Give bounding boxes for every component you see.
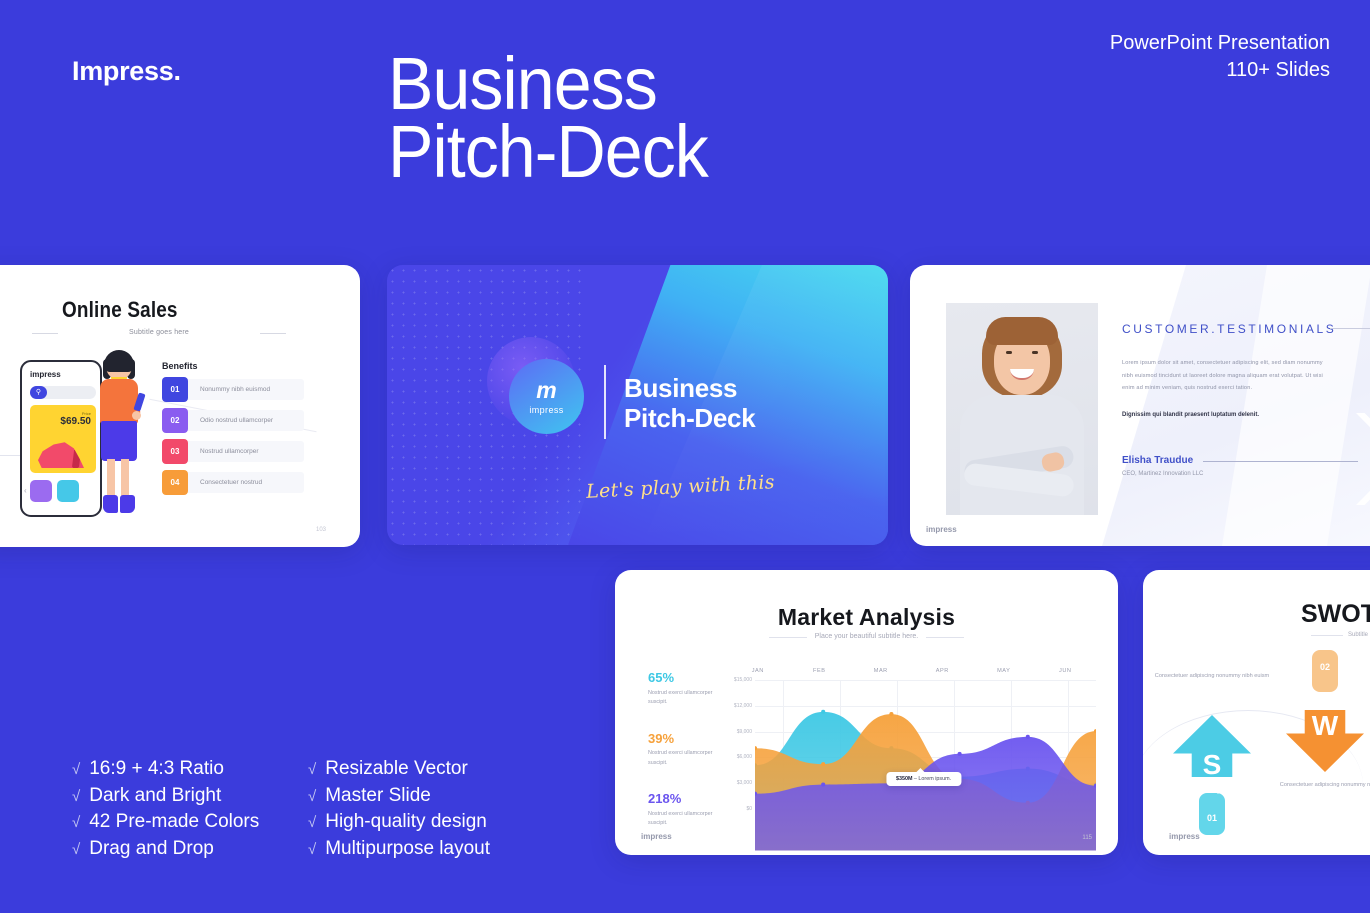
swot-letter: S	[1173, 751, 1251, 779]
vertical-divider	[604, 365, 606, 439]
page-number: 103	[316, 527, 326, 533]
check-icon: √	[308, 757, 316, 783]
y-axis-tick: $9,000	[737, 729, 752, 735]
chart-title: Market Analysis	[615, 604, 1118, 631]
page-title: Business Pitch-Deck	[388, 50, 708, 186]
legend-percent: 218%	[648, 791, 714, 807]
slide-subtitle: Subtitle	[1348, 632, 1368, 638]
feature-label: Resizable Vector	[325, 756, 468, 782]
chart-tooltip: $350M – Lorem ipsum.	[886, 772, 961, 786]
price-value: $69.50	[60, 416, 91, 427]
thumbnail-cyan	[57, 480, 79, 502]
impress-logo: m impress	[509, 359, 584, 434]
swot-number: 02	[1286, 662, 1364, 672]
swot-label: Strength	[1173, 785, 1251, 794]
cover-title-line2: Pitch-Deck	[624, 404, 755, 434]
author-rule	[1203, 461, 1358, 462]
benefits-heading: Benefits	[162, 361, 198, 371]
feature-label: Drag and Drop	[89, 836, 214, 862]
page-title-line2: Pitch-Deck	[388, 118, 708, 186]
product-card: Price $69.50	[30, 405, 96, 473]
slide-thumbnail-online-sales[interactable]: Online Sales Subtitle goes here impress …	[0, 265, 360, 547]
x-axis-tick: MAR	[874, 668, 888, 674]
feature-item: √Drag and Drop	[72, 836, 304, 863]
feature-item: √Multipurpose layout	[308, 836, 490, 863]
chart-legend: 65% Nostrud exerci ullamcorper suscipit.…	[648, 670, 714, 852]
benefit-text: Consectetuer nostrud	[200, 470, 262, 495]
tooltip-label: – Lorem ipsum.	[914, 776, 951, 782]
feature-item: √Master Slide	[308, 783, 490, 810]
benefit-number: 01	[162, 377, 188, 402]
slide-title: SWOT	[1301, 600, 1370, 629]
thumbnail-purple	[30, 480, 52, 502]
tooltip-value: $350M	[896, 776, 912, 782]
product-type-label: PowerPoint Presentation	[1110, 30, 1330, 57]
swot-item-weakness[interactable]: 02 Weakness W Consectetuer adipiscing no…	[1286, 650, 1364, 772]
legend-item: 218% Nostrud exerci ullamcorper suscipit…	[648, 791, 714, 829]
y-axis-tick: $0	[746, 806, 752, 812]
y-axis-tick: $3,000	[737, 780, 752, 786]
section-heading: CUSTOMER.TESTIMONIALS	[1122, 322, 1336, 336]
author-role: CEO, Martinez Innovation LLC	[1122, 471, 1203, 477]
x-axis-labels: JANFEBMARAPRMAYJUN	[727, 668, 1096, 680]
feature-label: Multipurpose layout	[325, 836, 490, 862]
slide-thumbnail-market-analysis[interactable]: Market Analysis Place your beautiful sub…	[615, 570, 1118, 855]
footer-logo: impress	[1169, 832, 1200, 841]
check-icon: √	[72, 810, 80, 836]
benefit-number: 03	[162, 439, 188, 464]
swot-caption: Consectetuer adipiscing nonummy nibh eui…	[1272, 780, 1370, 791]
feature-item: √42 Pre-made Colors	[72, 809, 304, 836]
feature-item: √16:9 + 4:3 Ratio	[72, 756, 304, 783]
check-icon: √	[72, 784, 80, 810]
slide-thumbnail-testimonials[interactable]: CUSTOMER.TESTIMONIALS Lorem ipsum dolor …	[910, 265, 1370, 546]
check-icon: √	[72, 757, 80, 783]
list-item[interactable]: 01 Nonummy nibh euismod	[162, 377, 304, 402]
legend-item: 65% Nostrud exerci ullamcorper suscipit.	[648, 670, 714, 708]
feature-item: √Dark and Bright	[72, 783, 304, 810]
legend-desc: Nostrud exerci ullamcorper suscipit.	[648, 689, 714, 708]
feature-item: √High-quality design	[308, 809, 490, 836]
legend-item: 39% Nostrud exerci ullamcorper suscipit.	[648, 731, 714, 769]
footer-logo: impress	[926, 525, 957, 534]
benefit-text: Nostrud ullamcorper	[200, 439, 259, 464]
swot-letter: W	[1286, 712, 1364, 740]
feature-list: √16:9 + 4:3 Ratio √Resizable Vector √Dar…	[72, 756, 490, 862]
carousel-prev-icon: ‹	[24, 486, 27, 495]
benefit-text: Odio nostrud ullamcorper	[200, 408, 273, 433]
phone-mockup: impress ⚲ Price $69.50 ‹	[20, 360, 102, 517]
testimonial-body: Lorem ipsum dolor sit amet, consectetuer…	[1122, 357, 1330, 395]
x-axis-tick: FEB	[813, 668, 825, 674]
search-icon: ⚲	[30, 386, 47, 399]
y-axis-tick: $15,000	[734, 677, 752, 683]
x-axis-tick: MAY	[997, 668, 1010, 674]
y-axis-labels: $15,000$12,000$9,000$6,000$3,000$0	[727, 680, 755, 809]
cover-title: Business Pitch-Deck	[624, 374, 755, 433]
list-item[interactable]: 04 Consectetuer nostrud	[162, 470, 304, 495]
legend-percent: 65%	[648, 670, 714, 686]
page-number: 115	[1082, 835, 1092, 841]
list-item[interactable]: 03 Nostrud ullamcorper	[162, 439, 304, 464]
benefit-number: 02	[162, 408, 188, 433]
phone-brand-label: impress	[30, 370, 61, 379]
customer-photo	[946, 303, 1098, 515]
chart-data-point	[958, 752, 962, 756]
area-chart: JANFEBMARAPRMAYJUN $15,000$12,000$9,000$…	[727, 668, 1096, 809]
swot-item-strength[interactable]: Consectetuer adipiscing nonummy nibh eui…	[1173, 715, 1251, 835]
chart-data-point	[889, 712, 893, 716]
feature-label: High-quality design	[325, 809, 487, 835]
heading-rule	[1330, 328, 1370, 329]
chart-data-point	[821, 783, 825, 787]
chart-data-point	[821, 710, 825, 714]
y-axis-tick: $6,000	[737, 754, 752, 760]
slide-thumbnail-swot[interactable]: SWOT Subtitle Consectetuer adipiscing no…	[1143, 570, 1370, 855]
slide-thumbnail-cover[interactable]: m impress Business Pitch-Deck Let's play…	[387, 265, 888, 545]
chart-data-point	[821, 762, 825, 766]
slide-title: Online Sales	[62, 297, 178, 323]
chart-data-point	[1026, 735, 1030, 739]
phone-search-bar: ⚲	[30, 386, 96, 399]
x-axis-tick: APR	[936, 668, 949, 674]
check-icon: √	[308, 810, 316, 836]
legend-percent: 39%	[648, 731, 714, 747]
legend-desc: Nostrud exerci ullamcorper suscipit.	[648, 749, 714, 768]
slide-subtitle: Subtitle goes here	[64, 329, 254, 336]
impress-monogram-icon: m	[536, 379, 556, 402]
feature-label: Dark and Bright	[89, 783, 221, 809]
feature-label: 16:9 + 4:3 Ratio	[89, 756, 224, 782]
legend-desc: Nostrud exerci ullamcorper suscipit.	[648, 810, 714, 829]
slide-count-label: 110+ Slides	[1110, 57, 1330, 84]
x-axis-tick: JUN	[1059, 668, 1071, 674]
benefit-text: Nonummy nibh euismod	[200, 377, 270, 402]
author-name: Elisha Traudue	[1122, 455, 1193, 466]
shoe-illustration	[38, 440, 84, 468]
check-icon: √	[72, 837, 80, 863]
y-axis-tick: $12,000	[734, 703, 752, 709]
brand-logo: Impress.	[72, 56, 181, 87]
x-axis-tick: JAN	[752, 668, 764, 674]
product-meta: PowerPoint Presentation 110+ Slides	[1110, 30, 1330, 84]
check-icon: √	[308, 837, 316, 863]
swot-caption: Consectetuer adipiscing nonummy nibh eui…	[1151, 671, 1273, 682]
woman-illustration	[92, 353, 148, 517]
list-item[interactable]: 02 Odio nostrud ullamcorper	[162, 408, 304, 433]
swot-label: Weakness	[1286, 696, 1364, 705]
benefit-number: 04	[162, 470, 188, 495]
benefits-list: 01 Nonummy nibh euismod 02 Odio nostrud …	[162, 377, 304, 501]
swot-number: 01	[1173, 813, 1251, 823]
feature-label: 42 Pre-made Colors	[89, 809, 259, 835]
poster-canvas: Impress. Business Pitch-Deck PowerPoint …	[0, 0, 1370, 913]
footer-logo: impress	[641, 832, 672, 841]
check-icon: √	[308, 784, 316, 810]
chart-series-area	[755, 680, 1096, 851]
testimonial-highlight: Dignissim qui blandit praesent luptatum …	[1122, 412, 1330, 418]
feature-label: Master Slide	[325, 783, 431, 809]
feature-item: √Resizable Vector	[308, 756, 490, 783]
chart-subtitle: Place your beautiful subtitle here.	[615, 633, 1118, 640]
subtitle-rule	[1311, 635, 1343, 636]
logo-name: impress	[529, 405, 563, 415]
cover-title-line1: Business	[624, 374, 755, 404]
product-thumbnails	[30, 480, 79, 502]
